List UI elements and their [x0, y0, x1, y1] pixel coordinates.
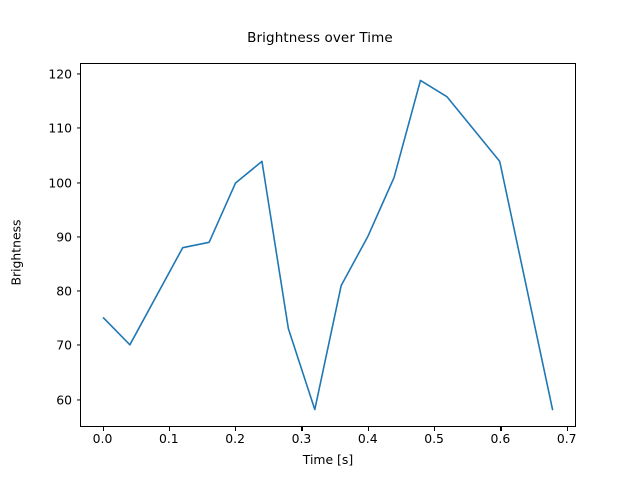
figure-canvas: Brightness over Time Brightness 60708090…	[0, 0, 640, 480]
y-tick-label: 60	[12, 392, 72, 407]
chart-title: Brightness over Time	[0, 30, 640, 46]
y-tick-label: 90	[12, 229, 72, 244]
y-tick-label: 70	[12, 338, 72, 353]
plot-area	[80, 63, 576, 427]
x-tick-label: 0.5	[404, 431, 464, 446]
y-tick-label: 110	[12, 121, 72, 136]
x-tick-label: 0.7	[537, 431, 597, 446]
y-tick-label: 80	[12, 284, 72, 299]
x-tick-label: 0.3	[271, 431, 331, 446]
x-tick-label: 0.4	[338, 431, 398, 446]
line-series-svg	[81, 64, 575, 426]
x-axis-tick-labels: 0.00.10.20.30.40.50.60.7	[80, 431, 576, 451]
y-tick-label: 100	[12, 175, 72, 190]
y-tick-label: 120	[12, 67, 72, 82]
x-tick-label: 0.6	[470, 431, 530, 446]
x-tick-label: 0.0	[73, 431, 133, 446]
x-tick-label: 0.1	[139, 431, 199, 446]
y-axis-tick-labels: 60708090100110120	[8, 63, 72, 427]
x-tick-label: 0.2	[205, 431, 265, 446]
x-axis-label: Time [s]	[80, 452, 576, 467]
brightness-line-series	[103, 80, 552, 409]
